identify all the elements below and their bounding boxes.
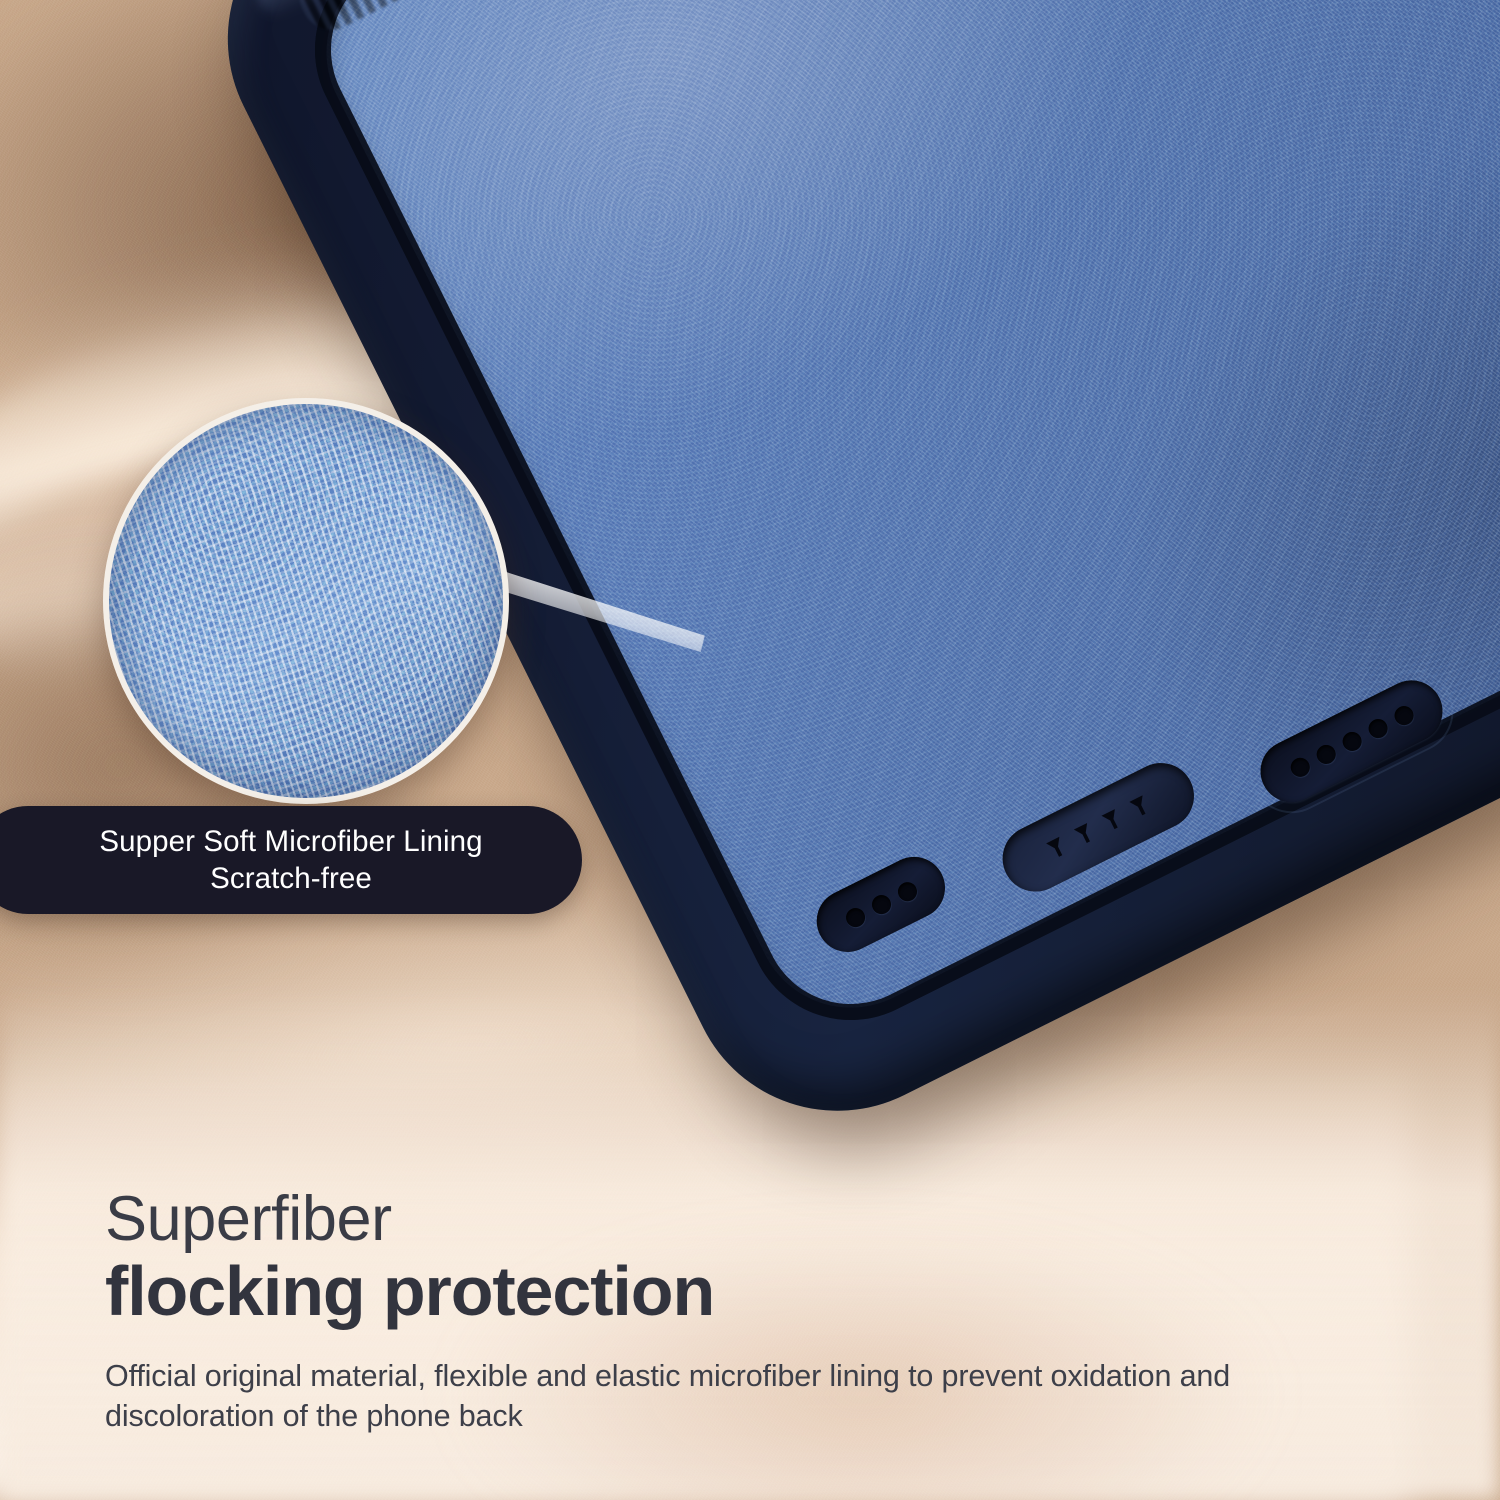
microfiber-zoom-inset <box>103 398 509 804</box>
callout-line-2: Scratch-free <box>210 860 372 897</box>
zoom-vignette <box>109 404 503 798</box>
headline-bold: flocking protection <box>105 1254 1405 1330</box>
port-notch <box>1074 823 1095 846</box>
headline-light: Superfiber <box>105 1186 1405 1252</box>
port-notch <box>1046 837 1067 860</box>
feature-callout-badge: Supper Soft Microfiber Lining Scratch-fr… <box>0 806 582 914</box>
port-notch <box>1101 809 1122 832</box>
body-paragraph: Official original material, flexible and… <box>105 1356 1255 1437</box>
marketing-copy-block: Superfiber flocking protection Official … <box>105 1186 1405 1437</box>
product-marketing-image: Supper Soft Microfiber Lining Scratch-fr… <box>0 0 1500 1500</box>
callout-line-1: Supper Soft Microfiber Lining <box>99 823 482 860</box>
port-notch <box>1129 795 1150 818</box>
